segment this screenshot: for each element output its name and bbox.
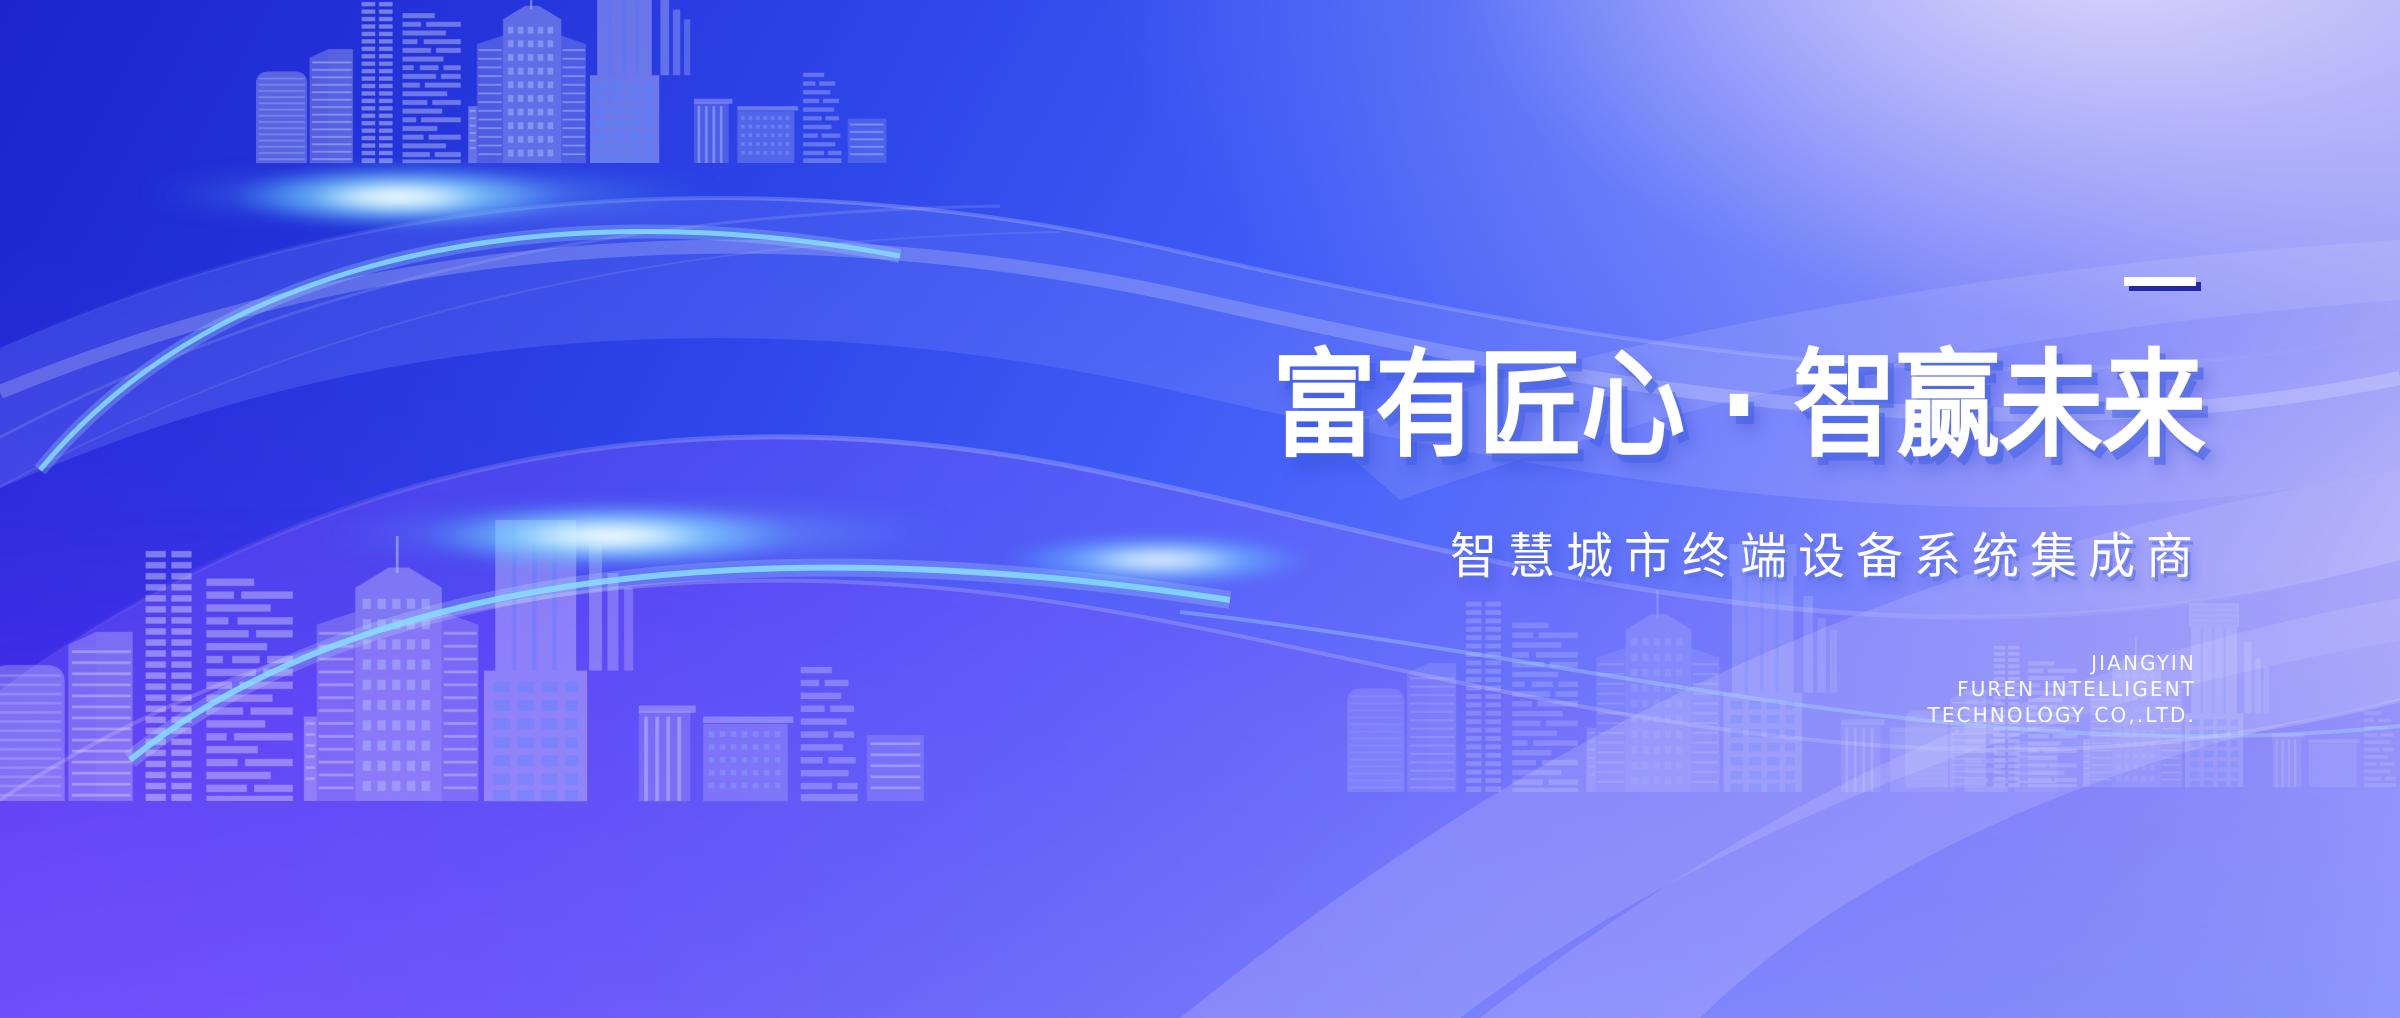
promo-banner: 富有匠心 · 智赢未来 智慧城市终端设备系统集成商 JIANGYIN FUREN… bbox=[0, 0, 2400, 1018]
skyline-top-left bbox=[256, 0, 886, 163]
artwork-layer bbox=[0, 0, 2400, 1018]
wave-band-upper bbox=[0, 198, 2400, 507]
